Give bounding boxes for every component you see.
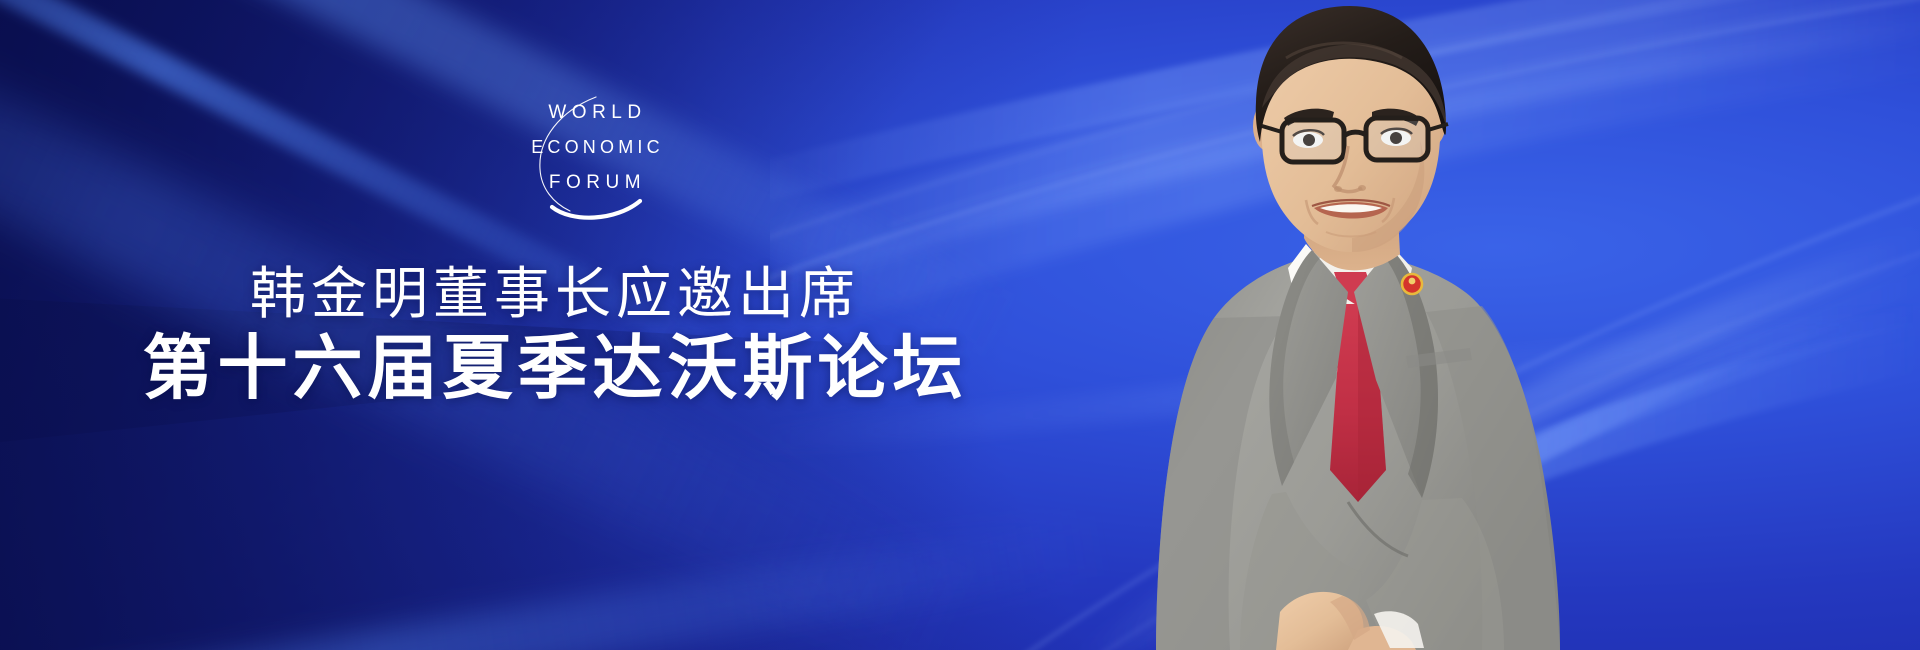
wef-logo-line-forum: FORUM	[500, 165, 690, 200]
lens-right	[1369, 121, 1425, 157]
wef-logo-line-world: WORLD	[500, 95, 690, 130]
portrait-illustration	[1090, 0, 1610, 650]
nostril-right	[1358, 185, 1366, 191]
world-economic-forum-logo: WORLD ECONOMIC FORUM	[500, 95, 690, 225]
wef-event-banner: WORLD ECONOMIC FORUM 韩金明董事长应邀出席 第十六届夏季达沃…	[0, 0, 1920, 650]
nostril-left	[1334, 186, 1342, 192]
headline-line-1: 韩金明董事长应邀出席	[0, 262, 1110, 326]
headline-line-2: 第十六届夏季达沃斯论坛	[0, 328, 1110, 408]
portrait-photo	[1090, 0, 1610, 650]
wef-logo-line-economic: ECONOMIC	[500, 130, 690, 165]
lens-left	[1285, 123, 1341, 159]
lapel-pin-star-icon	[1409, 278, 1416, 285]
headline-block: 韩金明董事长应邀出席 第十六届夏季达沃斯论坛	[0, 262, 1110, 408]
